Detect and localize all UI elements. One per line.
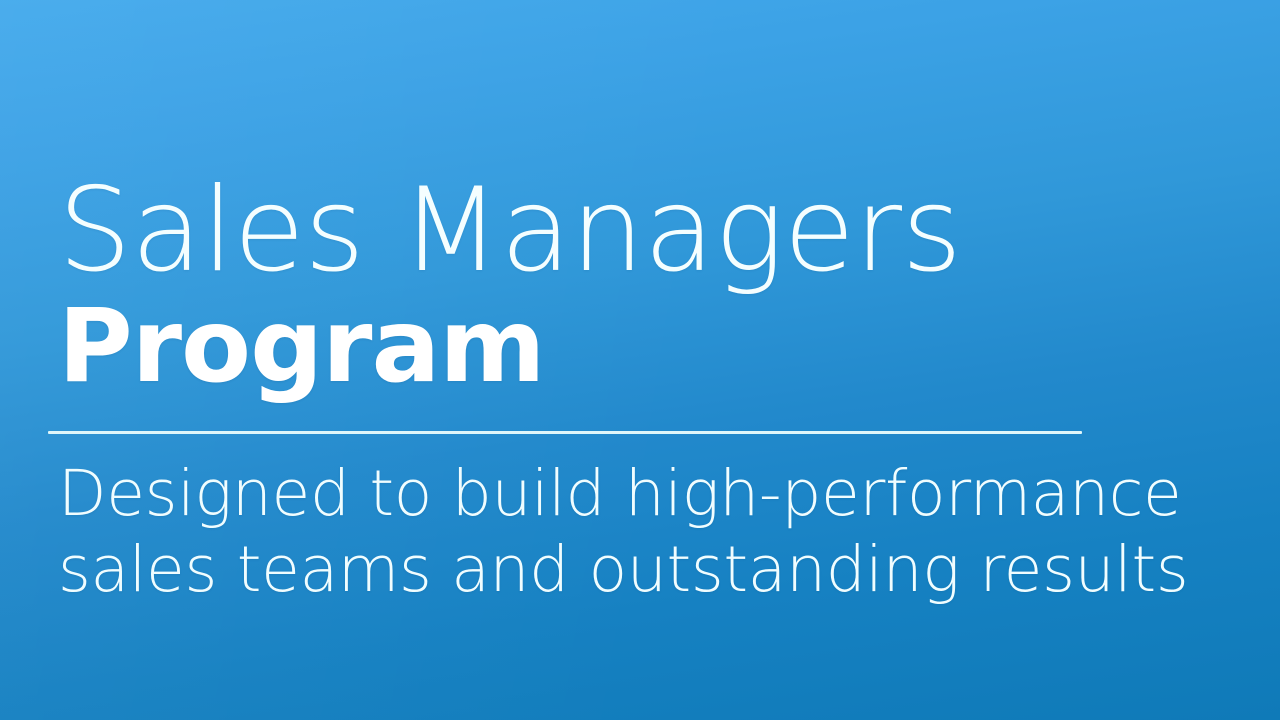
subtitle-line-1: Designed to build high-performance: [58, 456, 1088, 533]
subtitle-line-2: sales teams and outstanding results: [58, 532, 1088, 609]
title-line-primary: Sales Managers: [48, 172, 1088, 290]
subtitle: Designed to build high-performance sales…: [48, 456, 1088, 610]
title-slide: Sales Managers Program Designed to build…: [0, 0, 1280, 720]
slide-content: Sales Managers Program Designed to build…: [48, 172, 1088, 609]
page-title: Sales Managers Program: [48, 172, 1088, 405]
title-divider: [48, 431, 1082, 434]
title-line-emphasis: Program: [48, 290, 1088, 404]
